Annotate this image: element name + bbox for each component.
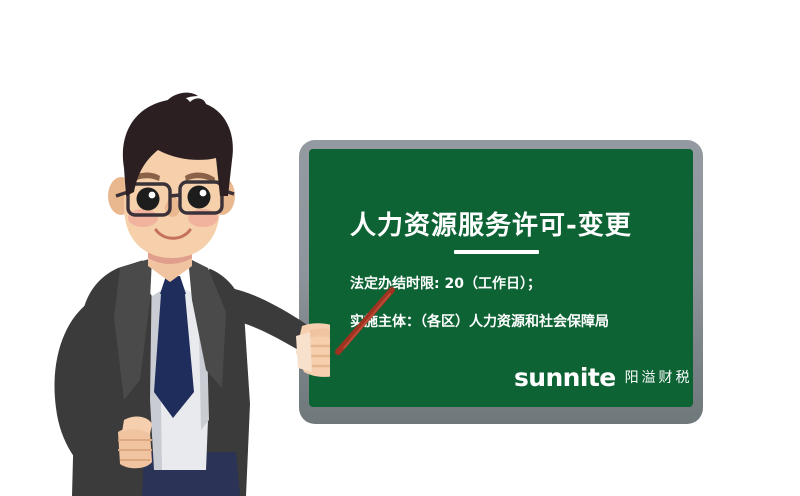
brand-logo: sunnite 阳溢财税 (514, 365, 693, 390)
blackboard-surface: 人力资源服务许可-变更 法定办结时限: 20（工作日）； 实施主体：（各区）人力… (309, 149, 693, 407)
cheek-blush-left (128, 209, 158, 227)
blackboard-frame: 人力资源服务许可-变更 法定办结时限: 20（工作日）； 实施主体：（各区）人力… (299, 140, 703, 424)
logo-wordmark: sunnite (514, 365, 616, 390)
logo-chinese-name: 阳溢财税 (625, 371, 693, 385)
eye-left-highlight (149, 192, 156, 199)
eye-right (188, 186, 211, 209)
board-title: 人力资源服务许可-变更 (350, 205, 632, 242)
pointing-hand (296, 323, 330, 377)
board-line-processing-time: 法定办结时限: 20（工作日）； (350, 273, 541, 293)
eye-left (137, 188, 160, 211)
businessman-illustration (0, 0, 330, 496)
title-underline (454, 250, 539, 254)
poster-canvas: 人力资源服务许可-变更 法定办结时限: 20（工作日）； 实施主体：（各区）人力… (0, 0, 800, 496)
eye-right-highlight (200, 190, 207, 197)
board-line-authority: 实施主体：（各区）人力资源和社会保障局 (350, 311, 609, 331)
